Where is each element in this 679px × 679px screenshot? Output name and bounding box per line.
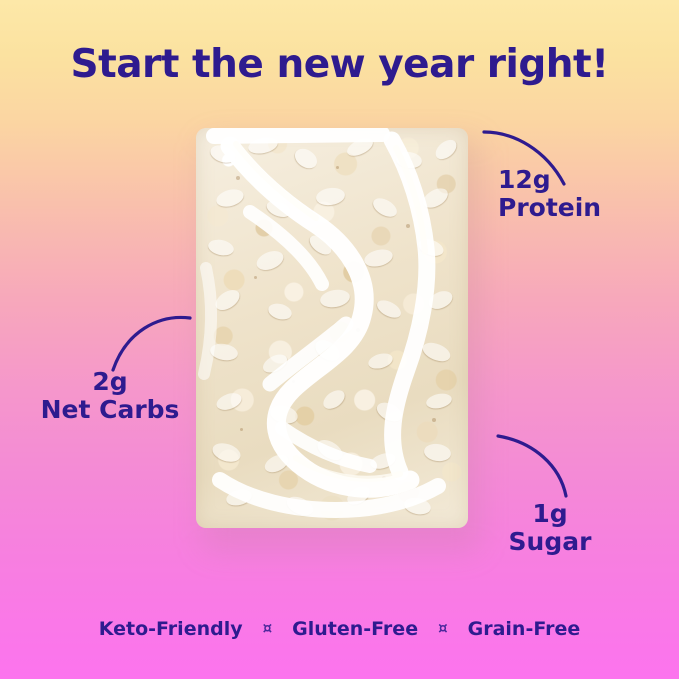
- callout-sugar-value: 1g: [470, 500, 630, 528]
- callout-protein: 12g Protein: [498, 166, 648, 222]
- callout-sugar: 1g Sugar: [470, 500, 630, 556]
- claim-separator-icon: ¤: [438, 619, 448, 637]
- promo-poster: Start the new year right!: [0, 0, 679, 679]
- arc-net-carbs-icon: [108, 312, 194, 374]
- callout-protein-label: Protein: [498, 194, 648, 222]
- callout-net-carbs-value: 2g: [10, 368, 210, 396]
- claim-separator-icon: ¤: [263, 619, 273, 637]
- claim-keto-friendly: Keto-Friendly: [99, 618, 243, 640]
- callout-sugar-label: Sugar: [470, 528, 630, 556]
- claim-grain-free: Grain-Free: [468, 618, 581, 640]
- callout-protein-value: 12g: [498, 166, 648, 194]
- callout-net-carbs-label: Net Carbs: [10, 396, 210, 424]
- arc-sugar-icon: [492, 432, 572, 500]
- page-title: Start the new year right!: [0, 44, 679, 87]
- claim-gluten-free: Gluten-Free: [292, 618, 418, 640]
- claims-row: Keto-Friendly ¤ Gluten-Free ¤ Grain-Free: [0, 618, 679, 640]
- callout-net-carbs: 2g Net Carbs: [10, 368, 210, 424]
- product-image: [196, 128, 486, 558]
- icing-drizzle: [196, 128, 468, 528]
- crispy-rice-bar: [196, 128, 468, 528]
